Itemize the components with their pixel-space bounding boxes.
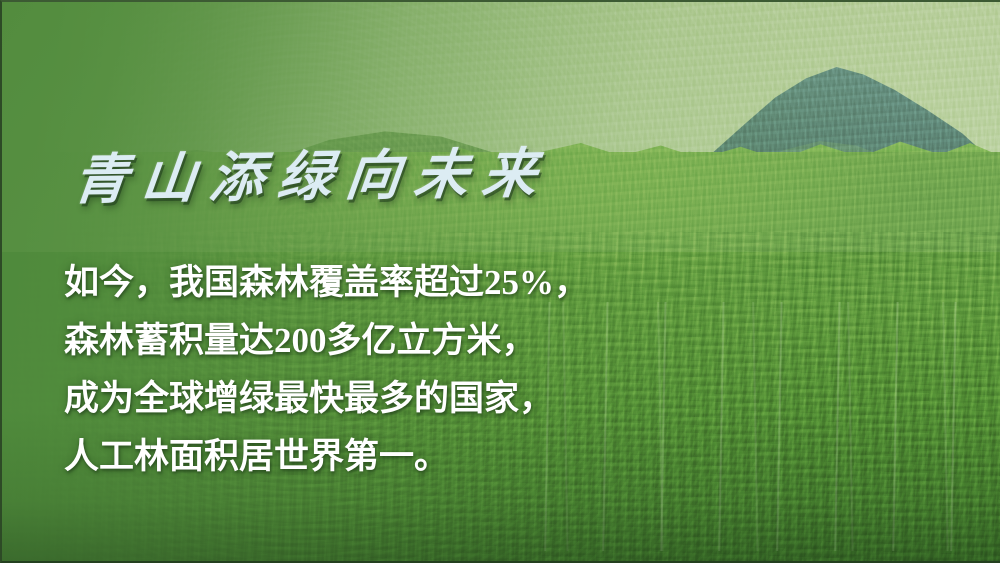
poster-canvas: 青山添绿向未来 如今，我国森林覆盖率超过25%， 森林蓄积量达200多亿立方米，… xyxy=(0,0,1000,563)
text-content-area: 青山添绿向未来 如今，我国森林覆盖率超过25%， 森林蓄积量达200多亿立方米，… xyxy=(2,2,1000,561)
body-line-4: 人工林面积居世界第一。 xyxy=(64,428,584,486)
body-line-1: 如今，我国森林覆盖率超过25%， xyxy=(64,254,584,312)
poster-body-copy: 如今，我国森林覆盖率超过25%， 森林蓄积量达200多亿立方米， 成为全球增绿最… xyxy=(64,254,584,486)
poster-headline: 青山添绿向未来 xyxy=(71,147,554,208)
body-line-2: 森林蓄积量达200多亿立方米， xyxy=(64,312,584,370)
body-line-3: 成为全球增绿最快最多的国家， xyxy=(64,370,584,428)
